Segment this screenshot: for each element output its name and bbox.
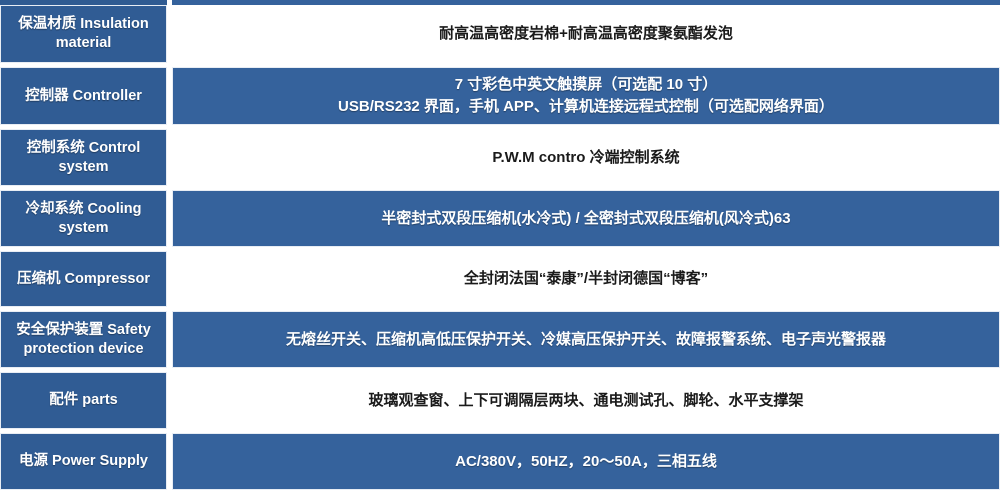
- table-body: 保温材质 Insulation material 耐高温高密度岩棉+耐高温高密度…: [0, 5, 1000, 490]
- row-value-parts: 玻璃观查窗、上下可调隔层两块、通电测试孔、脚轮、水平支撑架: [172, 372, 1000, 429]
- value-line: 全封闭法国“泰康”/半封闭德国“博客”: [183, 268, 989, 290]
- table-row: 电源 Power Supply AC/380V，50HZ，20～50A，三相五线: [0, 433, 1000, 490]
- row-label-safety-protection-device: 安全保护装置 Safety protection device: [0, 311, 167, 368]
- row-label-parts: 配件 parts: [0, 372, 167, 429]
- value-line: 耐高温高密度岩棉+耐高温高密度聚氨酯发泡: [183, 23, 989, 45]
- table-row: 压缩机 Compressor 全封闭法国“泰康”/半封闭德国“博客”: [0, 251, 1000, 307]
- row-value-cooling-system: 半密封式双段压缩机(水冷式) / 全密封式双段压缩机(风冷式)63: [172, 190, 1000, 247]
- value-line: USB/RS232 界面，手机 APP、计算机连接远程式控制（可选配网络界面）: [183, 96, 989, 118]
- specification-table: 保温材质 Insulation material 耐高温高密度岩棉+耐高温高密度…: [0, 0, 1000, 466]
- row-label-control-system: 控制系统 Control system: [0, 129, 167, 186]
- table-row: 配件 parts 玻璃观查窗、上下可调隔层两块、通电测试孔、脚轮、水平支撑架: [0, 372, 1000, 429]
- value-line: 无熔丝开关、压缩机高低压保护开关、冷媒高压保护开关、故障报警系统、电子声光警报器: [183, 329, 989, 351]
- table-row: 控制器 Controller 7 寸彩色中英文触摸屏（可选配 10 寸） USB…: [0, 67, 1000, 125]
- row-label-controller: 控制器 Controller: [0, 67, 167, 125]
- row-value-power-supply: AC/380V，50HZ，20～50A，三相五线: [172, 433, 1000, 490]
- row-value-safety-protection-device: 无熔丝开关、压缩机高低压保护开关、冷媒高压保护开关、故障报警系统、电子声光警报器: [172, 311, 1000, 368]
- value-line: P.W.M contro 冷端控制系统: [183, 147, 989, 169]
- table-row: 冷却系统 Cooling system 半密封式双段压缩机(水冷式) / 全密封…: [0, 190, 1000, 247]
- value-line: 玻璃观查窗、上下可调隔层两块、通电测试孔、脚轮、水平支撑架: [183, 390, 989, 412]
- row-label-insulation-material: 保温材质 Insulation material: [0, 5, 167, 63]
- row-label-cooling-system: 冷却系统 Cooling system: [0, 190, 167, 247]
- table-row: 安全保护装置 Safety protection device 无熔丝开关、压缩…: [0, 311, 1000, 368]
- table-row: 保温材质 Insulation material 耐高温高密度岩棉+耐高温高密度…: [0, 5, 1000, 63]
- row-value-control-system: P.W.M contro 冷端控制系统: [172, 129, 1000, 186]
- table-row: 控制系统 Control system P.W.M contro 冷端控制系统: [0, 129, 1000, 186]
- value-line: 7 寸彩色中英文触摸屏（可选配 10 寸）: [183, 74, 989, 96]
- row-value-compressor: 全封闭法国“泰康”/半封闭德国“博客”: [172, 251, 1000, 307]
- value-line: 半密封式双段压缩机(水冷式) / 全密封式双段压缩机(风冷式)63: [183, 208, 989, 230]
- value-line: AC/380V，50HZ，20～50A，三相五线: [183, 451, 989, 473]
- row-value-controller: 7 寸彩色中英文触摸屏（可选配 10 寸） USB/RS232 界面，手机 AP…: [172, 67, 1000, 125]
- row-label-power-supply: 电源 Power Supply: [0, 433, 167, 490]
- row-label-compressor: 压缩机 Compressor: [0, 251, 167, 307]
- row-value-insulation-material: 耐高温高密度岩棉+耐高温高密度聚氨酯发泡: [172, 5, 1000, 63]
